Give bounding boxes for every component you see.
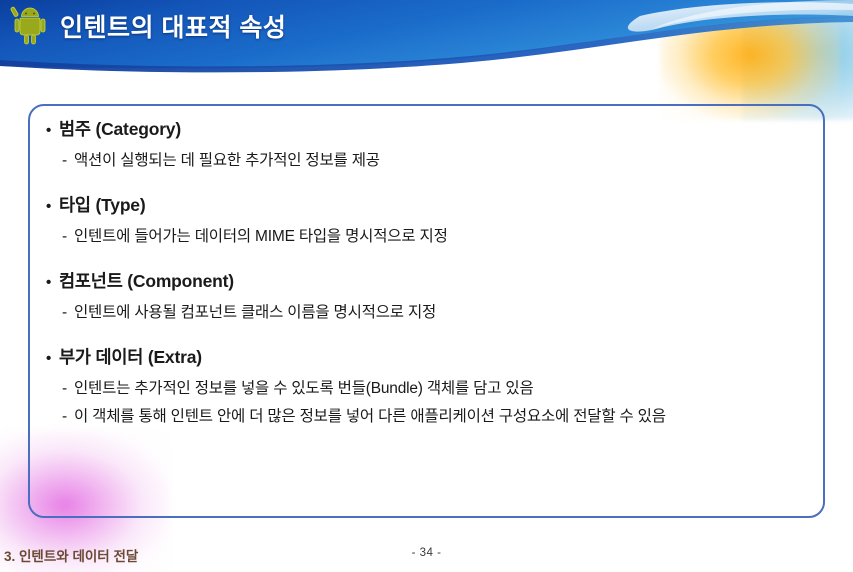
item-title-row: • 컴포넌트 (Component) [46, 268, 813, 293]
item-title: 부가 데이터 (Extra) [59, 344, 202, 369]
bullet-icon: • [46, 123, 59, 138]
dash-icon: - [62, 152, 74, 170]
item-title-row: • 타입 (Type) [46, 192, 813, 217]
android-robot-icon [6, 2, 54, 50]
page-number: - 34 - [0, 547, 853, 559]
item-detail-text: 액션이 실행되는 데 필요한 추가적인 정보를 제공 [74, 148, 380, 170]
slide-canvas: 인텐트의 대표적 속성 • 범주 (Category) - 액션이 실행되는 데… [0, 0, 853, 572]
dash-icon: - [62, 380, 74, 398]
item-detail-text: 인텐트는 추가적인 정보를 넣을 수 있도록 번들(Bundle) 객체를 담고… [74, 376, 534, 398]
bullet-icon: • [46, 275, 59, 290]
item-title-row: • 부가 데이터 (Extra) [46, 344, 813, 369]
item-detail-text: 이 객체를 통해 인텐트 안에 더 많은 정보를 넣어 다른 애플리케이션 구성… [74, 404, 666, 426]
list-item: • 컴포넌트 (Component) - 인텐트에 사용될 컴포넌트 클래스 이… [46, 268, 813, 322]
item-detail-text: 인텐트에 들어가는 데이터의 MIME 타입을 명시적으로 지정 [74, 224, 448, 246]
content-panel: • 범주 (Category) - 액션이 실행되는 데 필요한 추가적인 정보… [28, 104, 825, 518]
list-item: • 부가 데이터 (Extra) - 인텐트는 추가적인 정보를 넣을 수 있도… [46, 344, 813, 426]
bullet-icon: • [46, 351, 59, 366]
list-item: • 범주 (Category) - 액션이 실행되는 데 필요한 추가적인 정보… [46, 116, 813, 170]
item-title: 범주 (Category) [59, 116, 181, 141]
item-title-row: • 범주 (Category) [46, 116, 813, 141]
dash-icon: - [62, 228, 74, 246]
bullet-icon: • [46, 199, 59, 214]
item-detail-text: 인텐트에 사용될 컴포넌트 클래스 이름을 명시적으로 지정 [74, 300, 436, 322]
page-title: 인텐트의 대표적 속성 [60, 8, 286, 44]
dash-icon: - [62, 304, 74, 322]
item-title: 컴포넌트 (Component) [59, 268, 234, 293]
list-item: • 타입 (Type) - 인텐트에 들어가는 데이터의 MIME 타입을 명시… [46, 192, 813, 246]
dash-icon: - [62, 408, 74, 426]
item-detail-row: - 인텐트에 들어가는 데이터의 MIME 타입을 명시적으로 지정 [62, 224, 813, 246]
item-title: 타입 (Type) [59, 192, 145, 217]
item-detail-row: - 인텐트는 추가적인 정보를 넣을 수 있도록 번들(Bundle) 객체를 … [62, 376, 813, 398]
item-detail-row: - 액션이 실행되는 데 필요한 추가적인 정보를 제공 [62, 148, 813, 170]
item-detail-row: - 인텐트에 사용될 컴포넌트 클래스 이름을 명시적으로 지정 [62, 300, 813, 322]
item-detail-row: - 이 객체를 통해 인텐트 안에 더 많은 정보를 넣어 다른 애플리케이션 … [62, 404, 813, 426]
property-list: • 범주 (Category) - 액션이 실행되는 데 필요한 추가적인 정보… [46, 116, 813, 426]
